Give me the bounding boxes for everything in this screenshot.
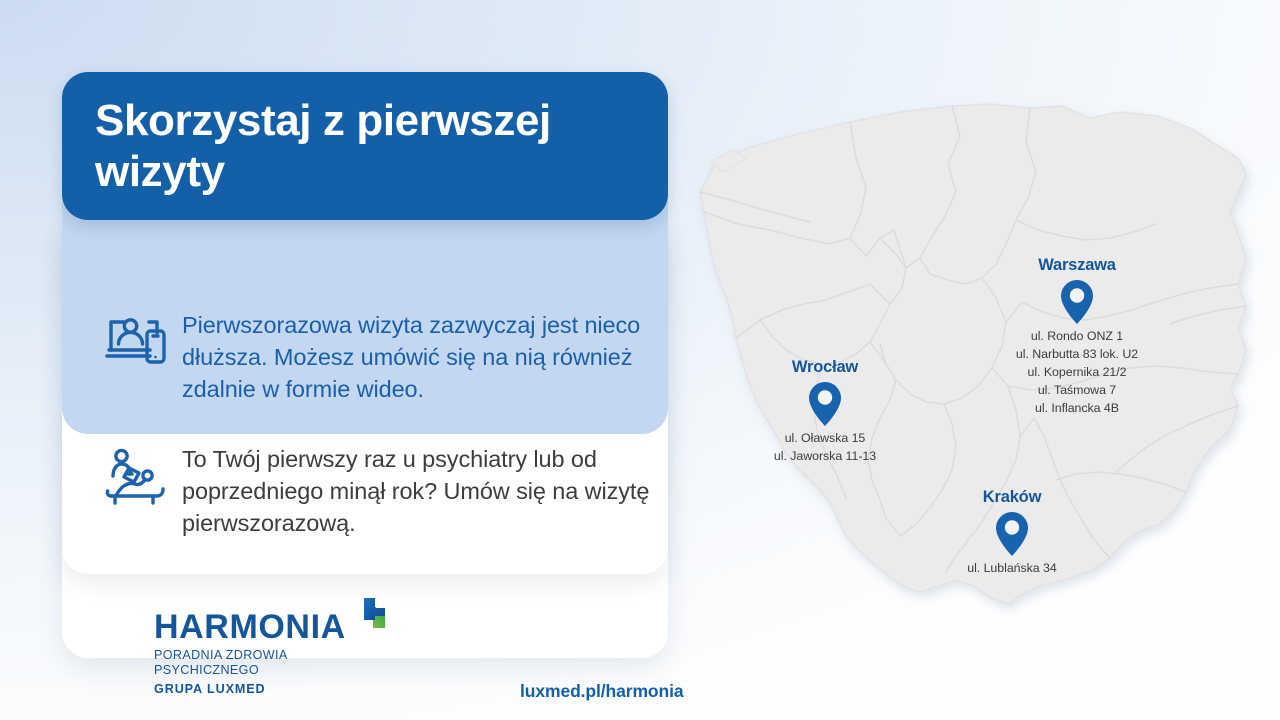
address-line: ul. Narbutta 83 lok. U2: [962, 345, 1192, 363]
city-label-krakow: Kraków: [912, 488, 1112, 507]
address-line: ul. Inflancka 4B: [962, 399, 1192, 417]
logo-subtitle-line2: PSYCHICZNEGO: [154, 663, 392, 678]
poland-map: Warszawa ul. Rondo ONZ 1 ul. Narbutta 83…: [690, 88, 1270, 668]
logo-group-label: GRUPA LUXMED: [154, 682, 392, 696]
address-line: ul. Kopernika 21/2: [962, 363, 1192, 381]
info-block-therapy-text: To Twój pierwszy raz u psychiatry lub od…: [182, 442, 660, 540]
map-pin-warszawa[interactable]: Warszawa ul. Rondo ONZ 1 ul. Narbutta 83…: [962, 256, 1192, 418]
map-pin-wroclaw[interactable]: Wrocław ul. Oławska 15 ul. Jaworska 11-1…: [710, 358, 940, 465]
info-block-video: Pierwszorazowa wizyta zazwyczaj jest nie…: [90, 308, 660, 406]
address-list-krakow: ul. Lublańska 34: [912, 559, 1112, 577]
page-title: Skorzystaj z pierwszej wizyty: [95, 95, 635, 197]
logo-subtitle-line1: PORADNIA ZDROWIA: [154, 648, 392, 663]
address-list-warszawa: ul. Rondo ONZ 1 ul. Narbutta 83 lok. U2 …: [962, 327, 1192, 418]
card-header: Skorzystaj z pierwszej wizyty: [62, 72, 668, 220]
website-url-link[interactable]: luxmed.pl/harmonia: [520, 681, 684, 702]
city-label-wroclaw: Wrocław: [710, 358, 940, 377]
harmonia-logo: HARMONIA: [154, 610, 392, 696]
address-line: ul. Lublańska 34: [912, 559, 1112, 577]
city-label-warszawa: Warszawa: [962, 256, 1192, 275]
map-pin-icon: [995, 511, 1029, 557]
logo-wordmark: HARMONIA: [154, 610, 346, 644]
address-line: ul. Taśmowa 7: [962, 381, 1192, 399]
map-pin-icon: [808, 381, 842, 427]
harmonia-cross-icon: [348, 594, 392, 643]
address-line: ul. Jaworska 11-13: [710, 447, 940, 465]
address-line: ul. Oławska 15: [710, 429, 940, 447]
address-list-wroclaw: ul. Oławska 15 ul. Jaworska 11-13: [710, 429, 940, 465]
map-pin-krakow[interactable]: Kraków ul. Lublańska 34: [912, 488, 1112, 577]
video-consultation-icon: [90, 308, 182, 368]
info-block-therapy: To Twój pierwszy raz u psychiatry lub od…: [90, 442, 660, 540]
info-block-video-text: Pierwszorazowa wizyta zazwyczaj jest nie…: [182, 308, 660, 406]
address-line: ul. Rondo ONZ 1: [962, 327, 1192, 345]
therapy-couch-icon: [90, 442, 182, 508]
map-pin-icon: [1060, 279, 1094, 325]
promo-card: Skorzystaj z pierwszej wizyty: [62, 72, 668, 658]
